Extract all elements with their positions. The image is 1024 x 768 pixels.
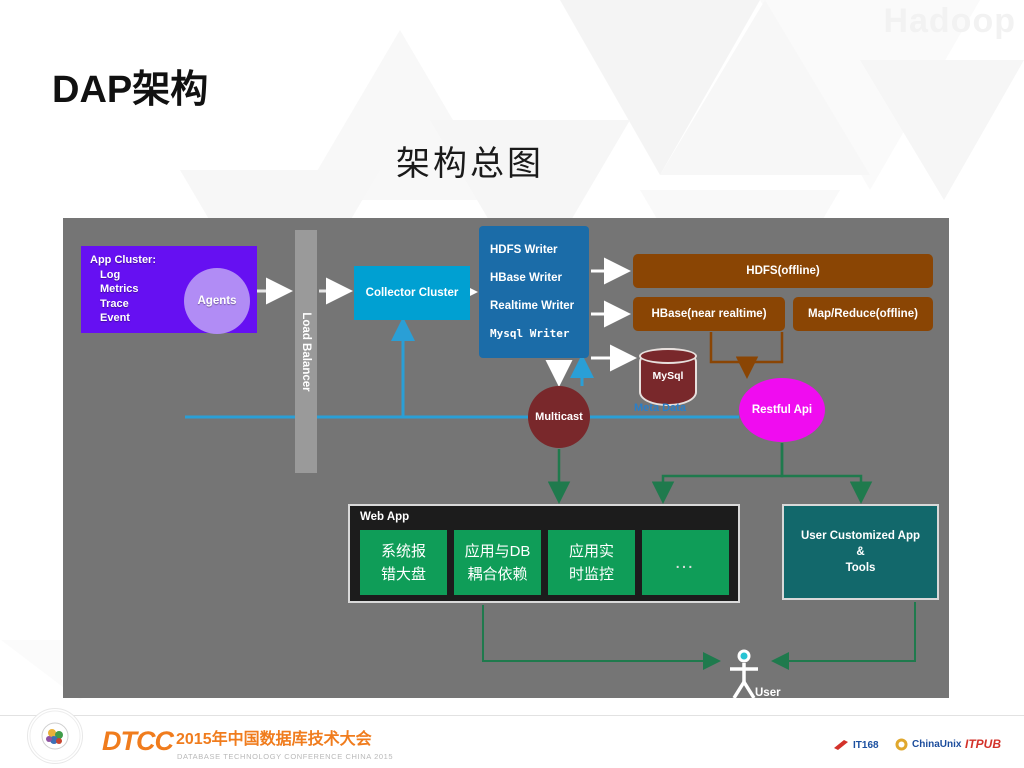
tile-line-1: 应用实 xyxy=(569,540,614,563)
architecture-diagram: App Cluster: Log Metrics Trace Event Age… xyxy=(63,218,949,698)
collector-cluster-box[interactable]: Collector Cluster xyxy=(354,266,470,320)
partner-logo-it168[interactable]: IT168 xyxy=(833,739,879,751)
load-balancer-bar[interactable]: Load Balancer xyxy=(295,230,317,473)
tile-line-1: 应用与DB xyxy=(465,540,531,563)
conference-name-en: DATABASE TECHNOLOGY CONFERENCE CHINA 201… xyxy=(177,752,393,761)
writer-hdfs: HDFS Writer xyxy=(490,236,589,264)
user-label: User xyxy=(755,687,781,699)
tile-line-1: 系统报 xyxy=(381,540,426,563)
ucapp-line-3: Tools xyxy=(801,560,920,576)
restful-api-node[interactable]: Restful Api xyxy=(739,378,825,442)
web-app-tile-more[interactable]: … xyxy=(642,530,729,595)
tile-line-2: 错大盘 xyxy=(381,563,426,586)
web-app-tile-realtime-monitor[interactable]: 应用实 时监控 xyxy=(548,530,635,595)
slide: Hadoop DAP架构 架构总图 xyxy=(0,0,1024,768)
web-app-tiles: 系统报 错大盘 应用与DB 耦合依赖 应用实 时监控 … xyxy=(360,530,729,595)
mysql-label: MySql xyxy=(639,370,697,382)
writer-mysql: Mysql Writer xyxy=(490,320,589,348)
mysql-cylinder-top xyxy=(639,348,697,364)
tile-line-2: 耦合依赖 xyxy=(467,563,527,586)
partner-label-itpub: ITPUB xyxy=(965,737,1001,751)
user-customized-app-box[interactable]: User Customized App & Tools xyxy=(782,504,939,600)
mysql-database-icon[interactable]: MySql xyxy=(639,348,697,406)
tile-line-2: 时监控 xyxy=(569,563,614,586)
web-app-panel[interactable]: Web App 系统报 错大盘 应用与DB 耦合依赖 应用实 时监控 … xyxy=(348,504,740,603)
app-cluster-header: App Cluster: xyxy=(90,254,156,266)
hadoop-watermark: Hadoop xyxy=(883,2,1016,41)
conference-name-cn: 2015年中国数据库技术大会 xyxy=(176,725,372,749)
writers-box[interactable]: HDFS Writer HBase Writer Realtime Writer… xyxy=(479,226,589,358)
conference-seal-logo xyxy=(27,708,83,764)
ucapp-line-2: & xyxy=(801,544,920,560)
web-app-header: Web App xyxy=(360,511,409,523)
footer-bar: DTCC 2015年中国数据库技术大会 DATABASE TECHNOLOGY … xyxy=(0,715,1024,768)
partner-logo-chinaunix[interactable]: ChinaUnix xyxy=(895,738,961,751)
page-title: DAP架构 xyxy=(52,58,208,113)
ucapp-line-1: User Customized App xyxy=(801,528,920,544)
mapreduce-offline-box[interactable]: Map/Reduce(offline) xyxy=(793,297,933,331)
tile-line-1: … xyxy=(674,551,697,574)
web-app-tile-app-db-dependency[interactable]: 应用与DB 耦合依赖 xyxy=(454,530,541,595)
hdfs-offline-box[interactable]: HDFS(offline) xyxy=(633,254,933,288)
partner-label-it168: IT168 xyxy=(853,740,879,751)
writer-realtime: Realtime Writer xyxy=(490,292,589,320)
partner-label-chinaunix: ChinaUnix xyxy=(912,739,961,750)
dtcc-brand: DTCC xyxy=(102,726,173,757)
meta-data-label: Meta Data xyxy=(634,402,686,414)
page-subtitle: 架构总图 xyxy=(396,136,544,185)
partner-logo-itpub[interactable]: ITPUB xyxy=(965,737,1001,751)
multicast-node[interactable]: Multicast xyxy=(528,386,590,448)
agents-circle[interactable]: Agents xyxy=(184,268,250,334)
app-cluster-box[interactable]: App Cluster: Log Metrics Trace Event Age… xyxy=(81,246,257,333)
writer-hbase: HBase Writer xyxy=(490,264,589,292)
load-balancer-label: Load Balancer xyxy=(300,312,312,391)
hbase-realtime-box[interactable]: HBase(near realtime) xyxy=(633,297,785,331)
web-app-tile-system-error[interactable]: 系统报 错大盘 xyxy=(360,530,447,595)
